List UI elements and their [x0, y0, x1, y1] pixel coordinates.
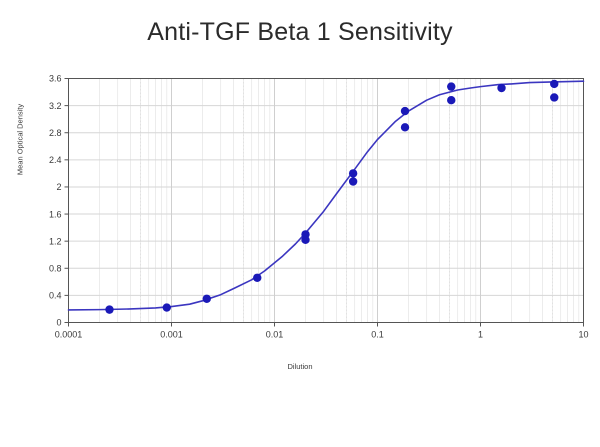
svg-text:2: 2 — [56, 182, 61, 192]
data-point-markers — [105, 80, 558, 314]
data-point — [163, 303, 171, 311]
major-gridlines — [69, 79, 584, 323]
svg-text:0.4: 0.4 — [49, 291, 62, 301]
svg-text:3.2: 3.2 — [49, 101, 62, 111]
svg-text:0.01: 0.01 — [266, 330, 284, 340]
data-point — [497, 84, 505, 92]
data-point — [401, 107, 409, 115]
svg-text:0: 0 — [56, 318, 61, 328]
plot-frame — [69, 79, 584, 323]
svg-text:2.4: 2.4 — [49, 155, 62, 165]
svg-text:0.1: 0.1 — [371, 330, 384, 340]
svg-text:1.6: 1.6 — [49, 209, 62, 219]
svg-text:2.8: 2.8 — [49, 128, 62, 138]
data-point — [447, 82, 455, 90]
data-point — [550, 93, 558, 101]
data-point — [301, 236, 309, 244]
data-point — [349, 177, 357, 185]
data-point — [253, 274, 261, 282]
data-point — [203, 295, 211, 303]
svg-text:10: 10 — [578, 330, 588, 340]
x-axis-ticks: 0.00010.0010.010.1110 — [55, 323, 589, 340]
svg-text:0.8: 0.8 — [49, 263, 62, 273]
svg-text:3.6: 3.6 — [49, 74, 62, 84]
y-axis-ticks: 00.40.81.21.622.42.83.23.6 — [49, 74, 69, 328]
svg-text:0.0001: 0.0001 — [55, 330, 83, 340]
svg-text:1: 1 — [478, 330, 483, 340]
svg-text:0.001: 0.001 — [160, 330, 183, 340]
data-point — [550, 80, 558, 88]
data-point — [349, 169, 357, 177]
chart-container: Anti-TGF Beta 1 Sensitivity Mean Optical… — [0, 0, 600, 447]
data-point — [105, 305, 113, 313]
fit-curve — [69, 81, 584, 310]
svg-text:1.2: 1.2 — [49, 236, 62, 246]
plot-area: 00.40.81.21.622.42.83.23.6 0.00010.0010.… — [0, 0, 600, 447]
data-point — [401, 123, 409, 131]
data-point — [447, 96, 455, 104]
